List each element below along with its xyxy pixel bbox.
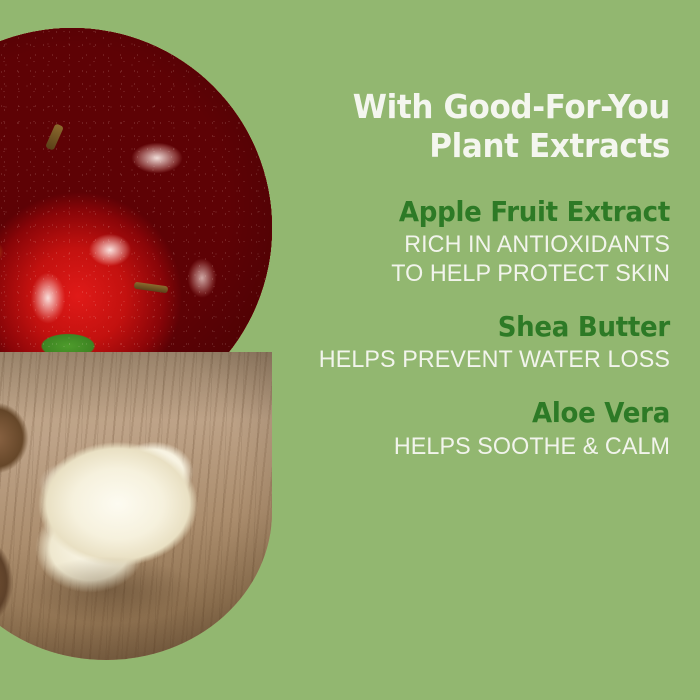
ingredient-description: HELPS SOOTHE & CALM xyxy=(263,433,670,462)
ingredient-description: RICH IN ANTIOXIDANTS TO HELP PROTECT SKI… xyxy=(263,231,670,289)
headline-line-2: Plant Extracts xyxy=(275,127,670,166)
ingredient-aloe-vera: Aloe Vera HELPS SOOTHE & CALM xyxy=(250,397,670,461)
ingredient-description: HELPS PREVENT WATER LOSS xyxy=(263,346,670,375)
ingredient-name: Apple Fruit Extract xyxy=(279,196,670,228)
promo-poster: With Good-For-You Plant Extracts Apple F… xyxy=(0,0,700,700)
ingredient-apple-fruit-extract: Apple Fruit Extract RICH IN ANTIOXIDANTS… xyxy=(250,196,670,289)
ingredient-description-line-1: RICH IN ANTIOXIDANTS xyxy=(263,231,670,260)
shea-photo-shading xyxy=(0,352,272,660)
shea-photo xyxy=(0,352,272,660)
ingredient-description-line-2: TO HELP PROTECT SKIN xyxy=(263,260,670,289)
page-title: With Good-For-You Plant Extracts xyxy=(275,88,670,166)
ingredient-shea-butter: Shea Butter HELPS PREVENT WATER LOSS xyxy=(250,311,670,375)
ingredient-name: Aloe Vera xyxy=(279,397,670,429)
headline-line-1: With Good-For-You xyxy=(275,88,670,127)
copy-column: With Good-For-You Plant Extracts Apple F… xyxy=(250,0,670,461)
ingredient-description-line-1: HELPS PREVENT WATER LOSS xyxy=(263,346,670,375)
ingredient-description-line-1: HELPS SOOTHE & CALM xyxy=(263,433,670,462)
ingredient-name: Shea Butter xyxy=(279,311,670,343)
